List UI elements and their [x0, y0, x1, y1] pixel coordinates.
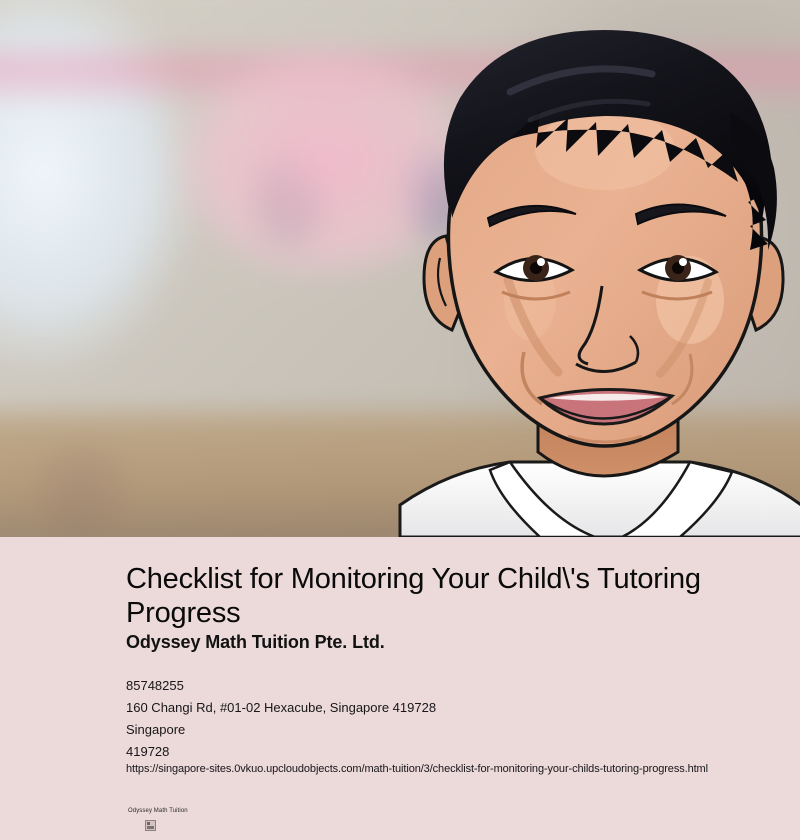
contact-street: 160 Changi Rd, #01-02 Hexacube, Singapor…: [126, 697, 766, 719]
broken-image-placeholder-icon: [145, 820, 156, 831]
footer-brand-label: Odyssey Math Tuition: [128, 807, 328, 816]
page-title: Checklist for Monitoring Your Child\'s T…: [126, 562, 726, 630]
article-preview-page: Checklist for Monitoring Your Child\'s T…: [0, 0, 800, 840]
article-url-link[interactable]: https://singapore-sites.0vkuo.upcloudobj…: [126, 762, 708, 776]
student-portrait-illustration: [390, 0, 800, 537]
contact-country: Singapore: [126, 719, 766, 741]
article-info-panel: Checklist for Monitoring Your Child\'s T…: [0, 537, 800, 840]
contact-postal-code: 419728: [126, 741, 766, 763]
footer-branding: Odyssey Math Tuition: [128, 807, 328, 831]
organization-name: Odyssey Math Tuition Pte. Ltd.: [126, 632, 385, 653]
hero-image: [0, 0, 800, 537]
contact-details: 85748255 160 Changi Rd, #01-02 Hexacube,…: [126, 675, 766, 763]
contact-phone: 85748255: [126, 675, 766, 697]
